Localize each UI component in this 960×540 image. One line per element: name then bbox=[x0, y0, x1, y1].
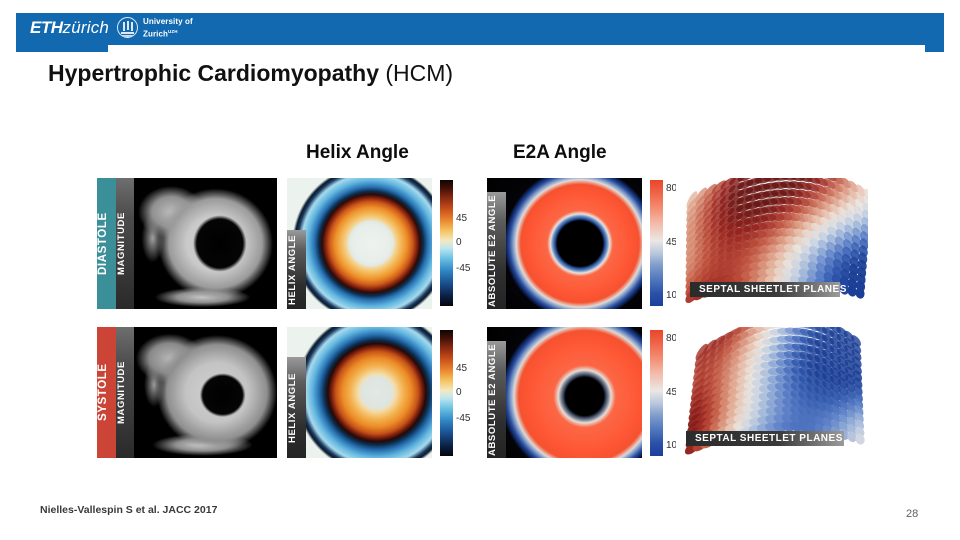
septal-sheetlet-panel-diastole[interactable]: SEPTAL SHEETLET PLANES bbox=[676, 178, 868, 309]
magnitude-panel-systole[interactable]: SYSTOLE MAGNITUDE bbox=[97, 327, 277, 458]
magnitude-strip-systole: MAGNITUDE bbox=[116, 327, 134, 458]
page-title: Hypertrophic Cardiomyopathy (HCM) bbox=[48, 58, 453, 88]
slide-canvas: ETHzürich University of ZurichUZH Hypert… bbox=[0, 0, 960, 540]
header-tab-left bbox=[16, 45, 108, 52]
page-title-normal: (HCM) bbox=[385, 60, 453, 86]
e2a-label-strip-systole: ABSOLUTE E2 ANGLE bbox=[487, 341, 506, 458]
e2a-angle-panel-diastole[interactable]: ABSOLUTE E2 ANGLE bbox=[487, 178, 642, 309]
e2a-angle-panel-systole[interactable]: ABSOLUTE E2 ANGLE bbox=[487, 327, 642, 458]
phase-strip-diastole: DIASTOLE bbox=[97, 178, 116, 309]
page-title-bold: Hypertrophic Cardiomyopathy bbox=[48, 60, 379, 86]
septal-sheetlet-caption-systole: SEPTAL SHEETLET PLANES bbox=[686, 431, 844, 446]
phase-label-diastole: DIASTOLE bbox=[97, 178, 109, 309]
e2a-angle-image-diastole bbox=[487, 178, 642, 309]
reference-citation: Nielles-Vallespin S et al. JACC 2017 bbox=[40, 504, 217, 516]
eth-logo-bold: ETH bbox=[30, 18, 63, 37]
helix-tick-45-systole: 45 bbox=[456, 364, 467, 374]
helix-colorbar-gradient-systole bbox=[440, 330, 453, 456]
helix-tick-0-systole: 0 bbox=[456, 388, 462, 398]
helix-angle-image-diastole bbox=[287, 178, 432, 309]
helix-angle-label-systole: HELIX ANGLE bbox=[287, 357, 298, 458]
uzh-seal-icon bbox=[117, 17, 138, 38]
magnitude-strip-diastole: MAGNITUDE bbox=[116, 178, 134, 309]
helix-label-strip-systole: HELIX ANGLE bbox=[287, 357, 306, 458]
page-number: 28 bbox=[906, 508, 918, 520]
eth-logo-light: zürich bbox=[63, 18, 110, 37]
magnitude-image-diastole bbox=[134, 178, 277, 309]
helix-colorbar-gradient-diastole bbox=[440, 180, 453, 306]
eth-zurich-logo: ETHzürich bbox=[30, 18, 109, 38]
magnitude-label-systole: MAGNITUDE bbox=[116, 327, 127, 458]
helix-colorbar-diastole: 45 0 -45 bbox=[440, 180, 494, 306]
magnitude-panel-diastole[interactable]: DIASTOLE MAGNITUDE bbox=[97, 178, 277, 309]
magnitude-label-diastole: MAGNITUDE bbox=[116, 178, 127, 309]
column-heading-helix-angle: Helix Angle bbox=[306, 142, 409, 164]
uzh-logo-line2: ZurichUZH bbox=[143, 27, 193, 39]
uzh-logo-line1: University of bbox=[143, 17, 193, 27]
uzh-logo: University of ZurichUZH bbox=[117, 17, 193, 39]
e2a-colorbar-gradient-diastole bbox=[650, 180, 663, 306]
helix-angle-panel-diastole[interactable]: HELIX ANGLE bbox=[287, 178, 432, 309]
septal-sheetlet-caption-diastole: SEPTAL SHEETLET PLANES bbox=[690, 282, 840, 297]
helix-angle-label-diastole: HELIX ANGLE bbox=[287, 230, 298, 309]
helix-colorbar-systole: 45 0 -45 bbox=[440, 330, 494, 456]
column-heading-e2a-angle: E2A Angle bbox=[513, 142, 607, 164]
header-tab-right bbox=[925, 45, 944, 52]
e2a-angle-label-systole: ABSOLUTE E2 ANGLE bbox=[487, 341, 498, 458]
e2a-colorbar-gradient-systole bbox=[650, 330, 663, 456]
phase-label-systole: SYSTOLE bbox=[97, 327, 109, 458]
septal-sheetlet-panel-systole[interactable]: SEPTAL SHEETLET PLANES bbox=[676, 327, 868, 458]
e2a-label-strip-diastole: ABSOLUTE E2 ANGLE bbox=[487, 192, 506, 309]
helix-tick-neg45-systole: -45 bbox=[456, 414, 470, 424]
helix-angle-image-systole bbox=[287, 327, 432, 458]
phase-strip-systole: SYSTOLE bbox=[97, 327, 116, 458]
helix-tick-0-diastole: 0 bbox=[456, 238, 462, 248]
uzh-logo-sup: UZH bbox=[168, 29, 178, 34]
e2a-angle-image-systole bbox=[487, 327, 642, 458]
helix-label-strip-diastole: HELIX ANGLE bbox=[287, 230, 306, 309]
helix-angle-panel-systole[interactable]: HELIX ANGLE bbox=[287, 327, 432, 458]
e2a-angle-label-diastole: ABSOLUTE E2 ANGLE bbox=[487, 192, 498, 309]
uzh-logo-text: University of ZurichUZH bbox=[143, 17, 193, 39]
helix-tick-45-diastole: 45 bbox=[456, 214, 467, 224]
uzh-logo-line2-text: Zurich bbox=[143, 29, 168, 38]
magnitude-image-systole bbox=[134, 327, 277, 458]
helix-tick-neg45-diastole: -45 bbox=[456, 264, 470, 274]
